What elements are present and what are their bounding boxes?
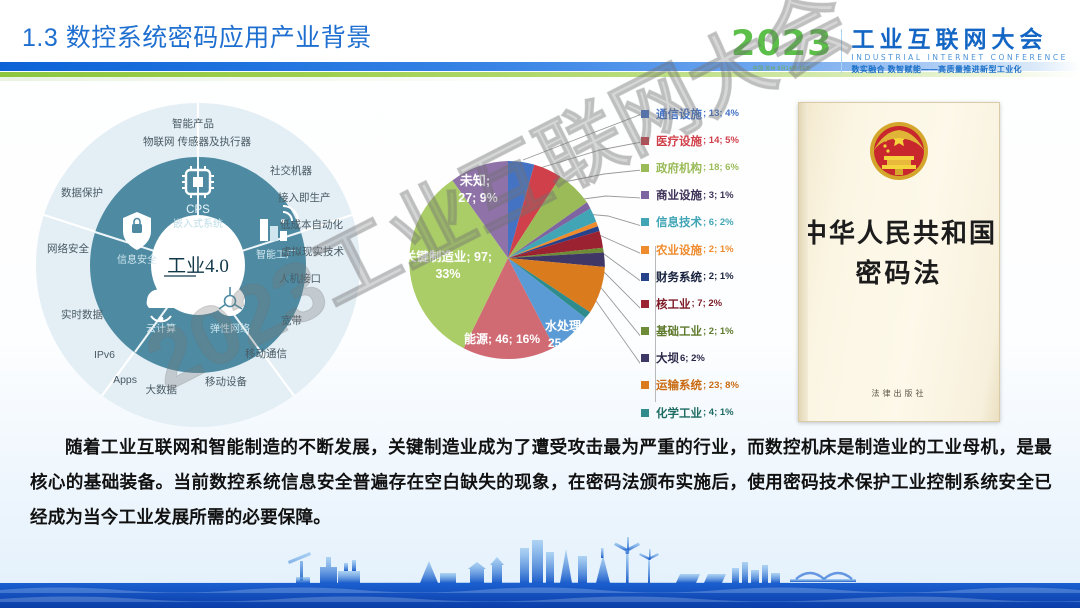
- factory-icon: [320, 557, 337, 583]
- oil-pump-icon: [420, 561, 438, 583]
- wheel-inner-label-infosec: 信息安全: [117, 253, 157, 266]
- legend-label: 政府机构: [656, 160, 702, 176]
- wheel-center-label: 工业4.0: [167, 255, 229, 277]
- pie-label-critical-line1: 关键制造业; 97;: [404, 249, 492, 264]
- wheel-inner-label-cps: CPS: [186, 204, 210, 216]
- legend-value: ; 18; 6%: [703, 162, 739, 173]
- svg-text:智能产品: 智能产品: [172, 117, 214, 130]
- bridge-icon: [790, 573, 856, 582]
- legend-item-communication[interactable]: 通信设施 ; 13; 4%: [641, 100, 816, 127]
- wheel-icon-chip: [182, 166, 214, 198]
- legend-label: 基础工业: [656, 323, 702, 339]
- legend-item-it[interactable]: 信息技术 ; 6; 2%: [641, 209, 816, 236]
- conference-logo: 2023 中国·苏州 8月14日-16日 工业互联网大会 INDUSTRIAL …: [731, 27, 1068, 75]
- svg-text:社交机器: 社交机器: [270, 164, 312, 177]
- legend-item-finance[interactable]: 财务系统 ; 2; 1%: [641, 263, 816, 290]
- legend-label: 信息技术: [656, 214, 702, 230]
- legend-swatch-icon: [641, 218, 649, 226]
- legend-item-nuclear[interactable]: 核工业 ; 7; 2%: [641, 290, 816, 317]
- legend-item-agriculture[interactable]: 农业设施 ; 2; 1%: [641, 236, 816, 263]
- legend-swatch-icon: [641, 191, 649, 199]
- pie-svg: 未知; 27; 9% 关键制造业; 97; 33% 能源; 46; 16% 水处…: [390, 98, 640, 423]
- legend-label: 医疗设施: [656, 133, 702, 149]
- svg-text:IPv6: IPv6: [94, 349, 115, 361]
- page-title: 1.3 数控系统密码应用产业背景: [22, 18, 372, 54]
- legend-swatch-icon: [641, 354, 649, 362]
- solar-panel-icon: [676, 574, 726, 583]
- svg-text:接入即生产: 接入即生产: [278, 191, 331, 204]
- pie-legend: 通信设施 ; 13; 4% 医疗设施 ; 14; 5% 政府机构 ; 18; 6…: [641, 100, 816, 415]
- legend-swatch-icon: [641, 273, 649, 281]
- pie-label-water-line1: 水处理;: [545, 318, 585, 333]
- legend-label: 财务系统: [656, 269, 702, 285]
- cryptography-law-book-cover: 中华人民共和国 密码法 法律出版社: [798, 102, 1000, 422]
- wheel-inner-label-cloud: 云计算: [146, 322, 176, 335]
- logo-text-block: 工业互联网大会 INDUSTRIAL INTERNET CONFERENCE 数…: [851, 27, 1068, 75]
- legend-value: ; 3; 1%: [703, 190, 734, 201]
- logo-name-en: INDUSTRIAL INTERNET CONFERENCE: [851, 53, 1068, 62]
- legend-value: ; 2; 1%: [703, 326, 734, 337]
- pie-label-water-line2: 25; 8%: [548, 336, 586, 350]
- legend-item-transport[interactable]: 运输系统 ; 23; 8%: [641, 372, 816, 399]
- legend-item-chemical[interactable]: 化学工业 ; 4; 1%: [641, 399, 816, 426]
- legend-item-medical[interactable]: 医疗设施 ; 14; 5%: [641, 127, 816, 154]
- legend-label: 通信设施: [656, 106, 702, 122]
- legend-swatch-icon: [641, 164, 649, 172]
- legend-axis-line: [655, 246, 656, 402]
- legend-swatch-icon: [641, 300, 649, 308]
- pie-label-energy: 能源; 46; 16%: [464, 331, 540, 346]
- wheel-inner-label-network: 弹性网络: [210, 322, 250, 335]
- incident-pie-chart: 未知; 27; 9% 关键制造业; 97; 33% 能源; 46; 16% 水处…: [390, 98, 640, 423]
- legend-value: ; 7; 2%: [692, 298, 723, 309]
- slide-root: 1.3 数控系统密码应用产业背景 2023 中国·苏州 8月14日-16日 工业…: [0, 0, 1080, 608]
- legend-value: ; 2; 1%: [703, 244, 734, 255]
- industry40-wheel-diagram: 工业4.0 CPS 嵌入式系统: [33, 100, 363, 430]
- legend-label: 大坝: [656, 350, 679, 366]
- book-title-line2: 密码法: [855, 253, 942, 290]
- svg-text:网络安全: 网络安全: [47, 242, 89, 255]
- legend-item-dam[interactable]: 大坝 6; 2%: [641, 345, 816, 372]
- wind-turbine-icon: [614, 537, 640, 583]
- body-paragraph: 随着工业互联网和智能制造的不断发展，关键制造业成为了遭受攻击最为严重的行业，而数…: [30, 430, 1052, 535]
- logo-name-cn: 工业互联网大会: [851, 27, 1068, 51]
- legend-swatch-icon: [641, 327, 649, 335]
- svg-text:宽带: 宽带: [281, 314, 302, 327]
- legend-swatch-icon: [641, 110, 649, 118]
- svg-text:物联网 传感器及执行器: 物联网 传感器及执行器: [143, 135, 251, 148]
- skyscraper-icon: [520, 548, 529, 583]
- svg-text:大数据: 大数据: [146, 383, 178, 396]
- logo-year: 2023: [731, 27, 832, 62]
- svg-text:低成本自动化: 低成本自动化: [280, 218, 343, 231]
- skyline-shapes: [288, 537, 856, 583]
- wheel-icon-network: [215, 286, 245, 316]
- header-divider-fade: [0, 77, 1080, 81]
- book-spine: [799, 103, 808, 421]
- legend-label: 化学工业: [656, 405, 702, 421]
- logo-divider: [841, 29, 842, 73]
- legend-value: ; 23; 8%: [703, 380, 739, 391]
- legend-swatch-icon: [641, 246, 649, 254]
- pie-label-critical-line2: 33%: [435, 267, 460, 281]
- svg-text:Apps: Apps: [113, 374, 137, 386]
- svg-text:虚拟现实技术: 虚拟现实技术: [281, 245, 344, 258]
- legend-label: 商业设施: [656, 187, 702, 203]
- legend-value: ; 14; 5%: [703, 135, 739, 146]
- legend-value: ; 13; 4%: [703, 108, 739, 119]
- sea-band: [0, 583, 1080, 608]
- legend-swatch-icon: [641, 381, 649, 389]
- svg-text:实时数据: 实时数据: [61, 308, 103, 321]
- book-publisher: 法律出版社: [799, 388, 999, 399]
- tower-icon: [468, 562, 486, 583]
- logo-slogan: 数实融合 数智赋能——高质量推进新型工业化: [851, 64, 1068, 75]
- legend-item-government[interactable]: 政府机构 ; 18; 6%: [641, 154, 816, 181]
- logo-date: 中国·苏州 8月14日-16日: [753, 65, 811, 72]
- pie-label-unknown-line1: 未知;: [459, 173, 490, 188]
- national-emblem-icon: [862, 120, 936, 195]
- legend-swatch-icon: [641, 137, 649, 145]
- legend-value: 6; 2%: [680, 353, 705, 364]
- wheel-inner-sublabel-cps: 嵌入式系统: [173, 217, 223, 230]
- svg-text:数据保护: 数据保护: [61, 186, 103, 199]
- wheel-svg: 工业4.0 CPS 嵌入式系统: [33, 100, 363, 430]
- antenna-icon: [596, 555, 610, 583]
- legend-swatch-icon: [641, 409, 649, 417]
- svg-text:移动设备: 移动设备: [205, 375, 247, 388]
- pie-label-unknown-line2: 27; 9%: [458, 191, 498, 205]
- legend-item-commercial[interactable]: 商业设施 ; 3; 1%: [641, 182, 816, 209]
- legend-label: 核工业: [656, 296, 691, 312]
- legend-item-basic-industry[interactable]: 基础工业 ; 2; 1%: [641, 318, 816, 345]
- skyline-svg: [0, 530, 1080, 608]
- legend-value: ; 4; 1%: [703, 407, 734, 418]
- footer-skyline-band: [0, 530, 1080, 608]
- legend-label: 农业设施: [656, 242, 702, 258]
- svg-text:人机接口: 人机接口: [279, 272, 321, 285]
- legend-label: 运输系统: [656, 377, 702, 393]
- svg-text:移动通信: 移动通信: [245, 347, 287, 360]
- legend-value: ; 2; 1%: [703, 271, 734, 282]
- logo-year-block: 2023 中国·苏州 8月14日-16日: [731, 27, 841, 72]
- legend-value: ; 6; 2%: [703, 217, 734, 228]
- book-title-line1: 中华人民共和国: [801, 217, 997, 250]
